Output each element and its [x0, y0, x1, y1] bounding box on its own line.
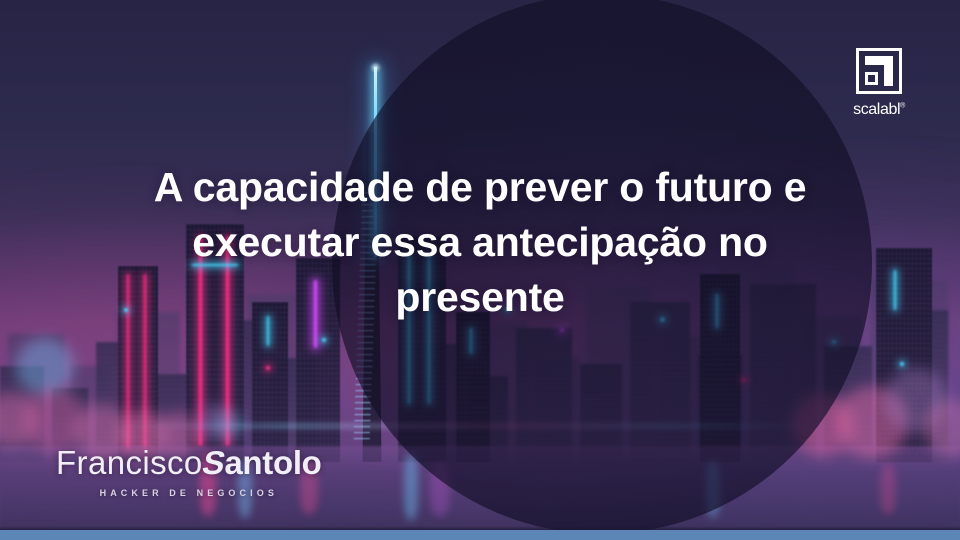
mark-small-square: [865, 72, 878, 85]
scalabl-logo: scalabl®: [840, 48, 918, 119]
fs-last-name: Santolo: [203, 444, 322, 481]
bottom-accent-bar: [0, 530, 960, 540]
headline-line-3: presente: [60, 270, 900, 325]
headline-line-1: A capacidade de prever o futuro e: [60, 160, 900, 215]
presentation-slide: A capacidade de prever o futuro e execut…: [0, 0, 960, 540]
fs-first-name: Francisco: [56, 444, 203, 481]
reflection-pink-3: [880, 464, 896, 514]
trademark-symbol: ®: [900, 103, 905, 110]
fs-tagline: HACKER DE NEGOCIOS: [56, 488, 322, 498]
francisco-santolo-logo: FranciscoSantolo HACKER DE NEGOCIOS: [56, 445, 322, 498]
scalabl-square-mark-icon: [856, 48, 902, 94]
scalabl-wordmark-text: scalabl: [853, 101, 900, 118]
mark-horizontal-bar: [865, 56, 887, 65]
fs-last-name-rest: antolo: [224, 444, 321, 481]
tower-spire-tip-glow: [370, 62, 381, 73]
reflection-cyan-2: [404, 454, 418, 520]
bokeh-blue-2: [214, 410, 244, 440]
bokeh-blue-1: [16, 338, 74, 396]
fs-name-row: FranciscoSantolo: [56, 445, 322, 481]
scalabl-wordmark: scalabl®: [853, 101, 905, 119]
slide-headline: A capacidade de prever o futuro e execut…: [60, 160, 900, 325]
headline-line-2: executar essa antecipação no: [60, 215, 900, 270]
